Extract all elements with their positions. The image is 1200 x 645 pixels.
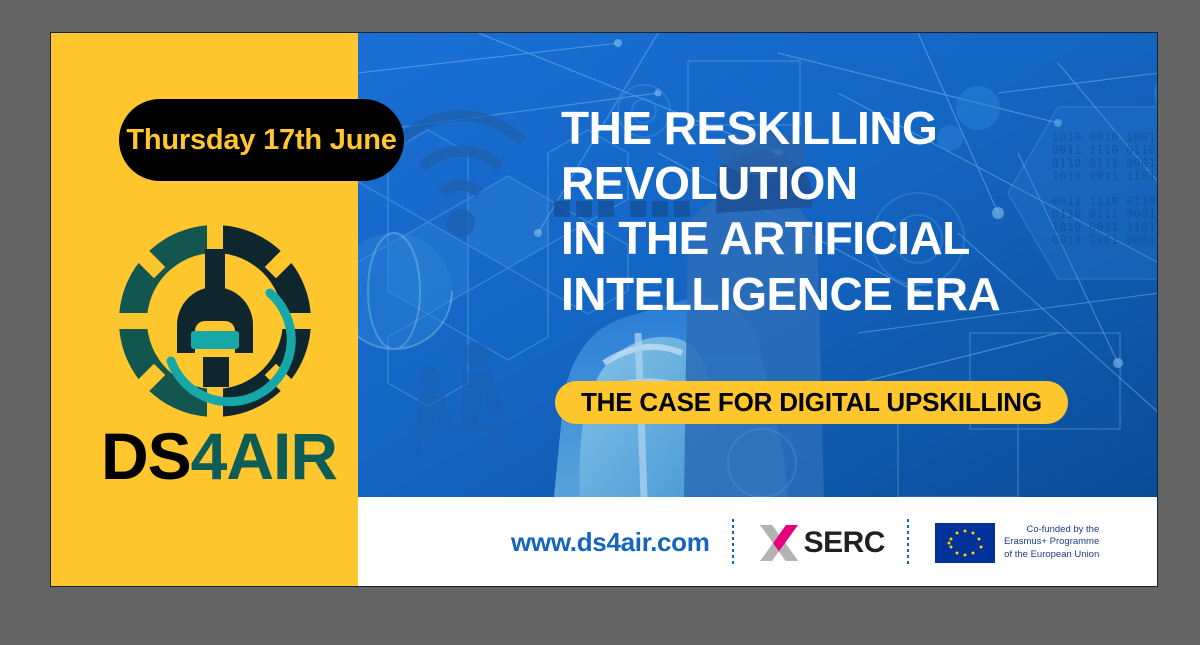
footer-bar: www.ds4air.com SERC xyxy=(358,497,1158,587)
headline: THE RESKILLING REVOLUTION IN THE ARTIFIC… xyxy=(561,101,1141,322)
hero-image-panel: 1010 0010 1001 0011 1110 0110 0110 0111 … xyxy=(358,33,1158,497)
website-link[interactable]: www.ds4air.com xyxy=(511,527,710,558)
eu-funding-block: Co-funded by the Erasmus+ Programme of t… xyxy=(935,523,1099,563)
headline-line-3: IN THE ARTIFICIAL xyxy=(561,211,1141,266)
wordmark-ds: DS xyxy=(101,419,191,493)
event-date-badge: Thursday 17th June xyxy=(119,99,404,181)
eu-funding-line-1: Co-funded by the xyxy=(1004,524,1099,537)
ds4air-wordmark: DS4AIR xyxy=(99,423,339,489)
event-banner: Thursday 17th June xyxy=(50,32,1158,587)
eu-flag-icon xyxy=(935,523,995,563)
headline-line-1: THE RESKILLING xyxy=(561,101,1141,156)
serc-wordmark: SERC xyxy=(804,526,885,560)
eu-funding-line-2: Erasmus+ Programme xyxy=(1004,536,1099,549)
headline-line-2: REVOLUTION xyxy=(561,156,1141,211)
ds4air-logo-icon xyxy=(115,221,315,421)
subtitle-text: THE CASE FOR DIGITAL UPSKILLING xyxy=(581,387,1042,418)
subtitle-badge: THE CASE FOR DIGITAL UPSKILLING xyxy=(555,381,1068,424)
eu-funding-text: Co-funded by the Erasmus+ Programme of t… xyxy=(1004,524,1099,562)
wordmark-4air: 4AIR xyxy=(191,419,337,493)
event-date-text: Thursday 17th June xyxy=(126,124,396,157)
serc-x-icon xyxy=(756,521,802,565)
headline-line-4: INTELLIGENCE ERA xyxy=(561,267,1141,322)
serc-logo: SERC xyxy=(756,521,885,565)
eu-funding-line-3: of the European Union xyxy=(1004,549,1099,562)
footer-divider-2 xyxy=(907,519,909,567)
left-brand-panel: Thursday 17th June xyxy=(51,33,358,586)
footer-divider-1 xyxy=(732,519,734,567)
